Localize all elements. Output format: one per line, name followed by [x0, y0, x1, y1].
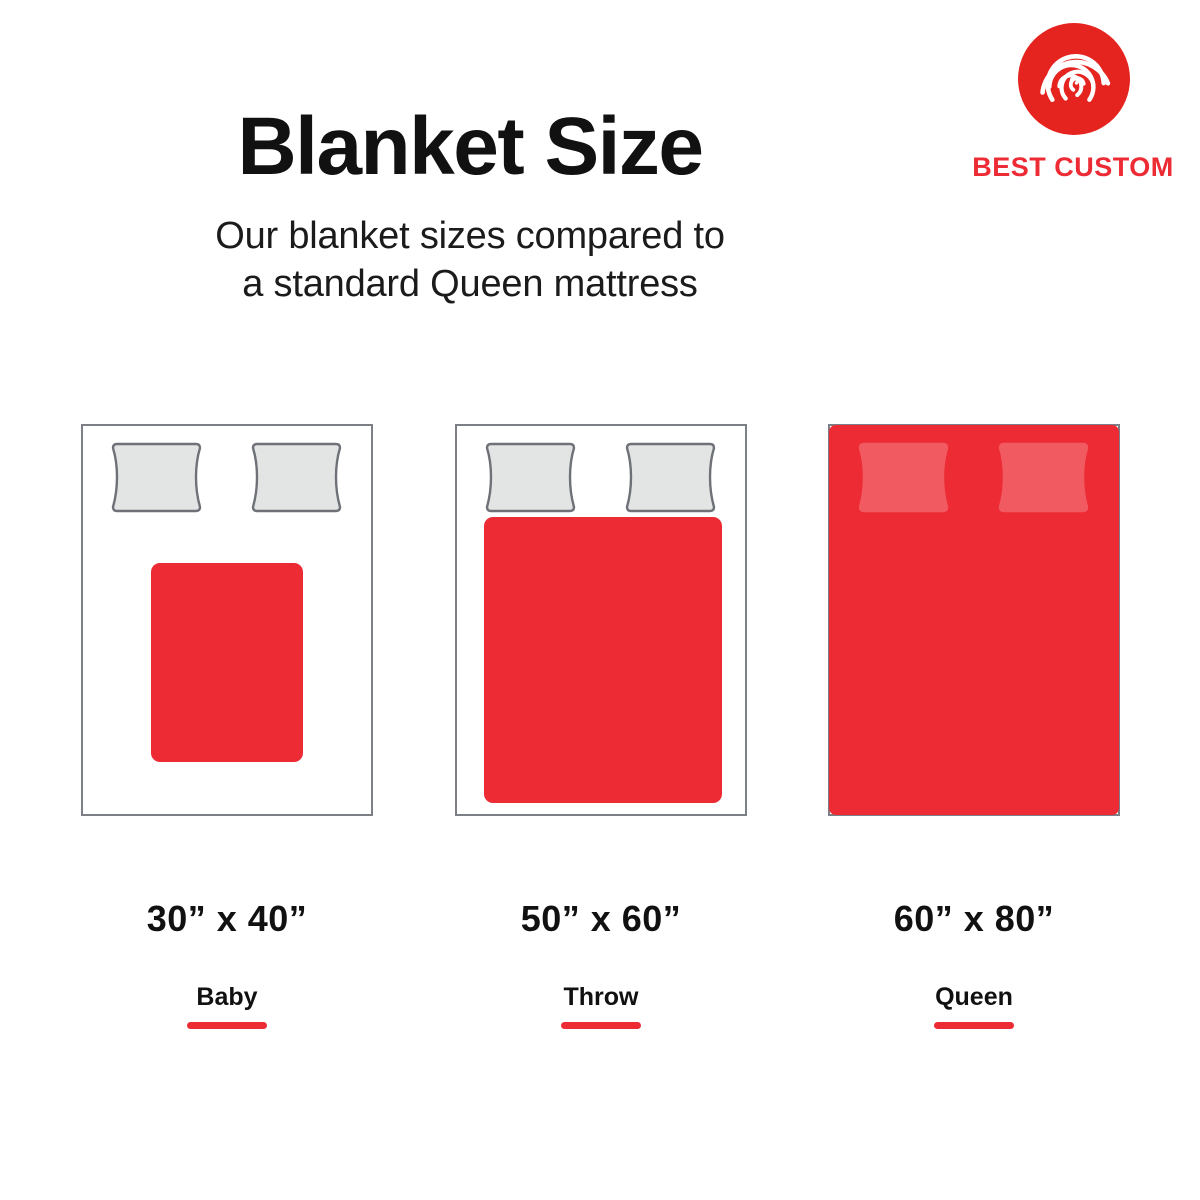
pillow-icon — [248, 441, 345, 514]
blanket-shape-baby — [151, 563, 303, 762]
accent-underline — [561, 1022, 641, 1029]
bed-diagram-throw — [455, 424, 747, 816]
blanket-shape-throw — [484, 517, 722, 803]
bed-diagram-baby — [81, 424, 373, 816]
subtitle-line-2: a standard Queen mattress — [120, 260, 820, 308]
pillow-icon — [622, 441, 719, 514]
subtitle-line-1: Our blanket sizes compared to — [120, 212, 820, 260]
page-subtitle: Our blanket sizes compared to a standard… — [120, 212, 820, 308]
dimension-label: 30” x 40” — [81, 898, 373, 940]
dimension-label: 60” x 80” — [828, 898, 1120, 940]
fingerprint-icon — [1017, 22, 1131, 136]
caption-baby: 30” x 40” Baby — [81, 898, 373, 1029]
pillow-icon — [482, 441, 579, 514]
size-name-label: Queen — [828, 982, 1120, 1012]
captions-row: 30” x 40” Baby 50” x 60” Throw 60” x 80”… — [0, 898, 1200, 1058]
bed-diagram-queen — [828, 424, 1120, 816]
pillow-icon — [108, 441, 205, 514]
caption-queen: 60” x 80” Queen — [828, 898, 1120, 1029]
accent-underline — [187, 1022, 267, 1029]
size-name-label: Baby — [81, 982, 373, 1012]
pillow-icon — [855, 441, 952, 514]
pillow-icon — [995, 441, 1092, 514]
dimension-label: 50” x 60” — [455, 898, 747, 940]
accent-underline — [934, 1022, 1014, 1029]
title-block: Blanket Size Our blanket sizes compared … — [0, 100, 940, 308]
caption-throw: 50” x 60” Throw — [455, 898, 747, 1029]
brand-logo: BEST CUSTOM — [962, 22, 1184, 192]
size-name-label: Throw — [455, 982, 747, 1012]
page-title: Blanket Size — [0, 100, 940, 194]
bed-diagrams-row — [0, 424, 1200, 816]
infographic-page: BEST CUSTOM Blanket Size Our blanket siz… — [0, 0, 1200, 1200]
brand-name: BEST CUSTOM — [962, 152, 1184, 183]
